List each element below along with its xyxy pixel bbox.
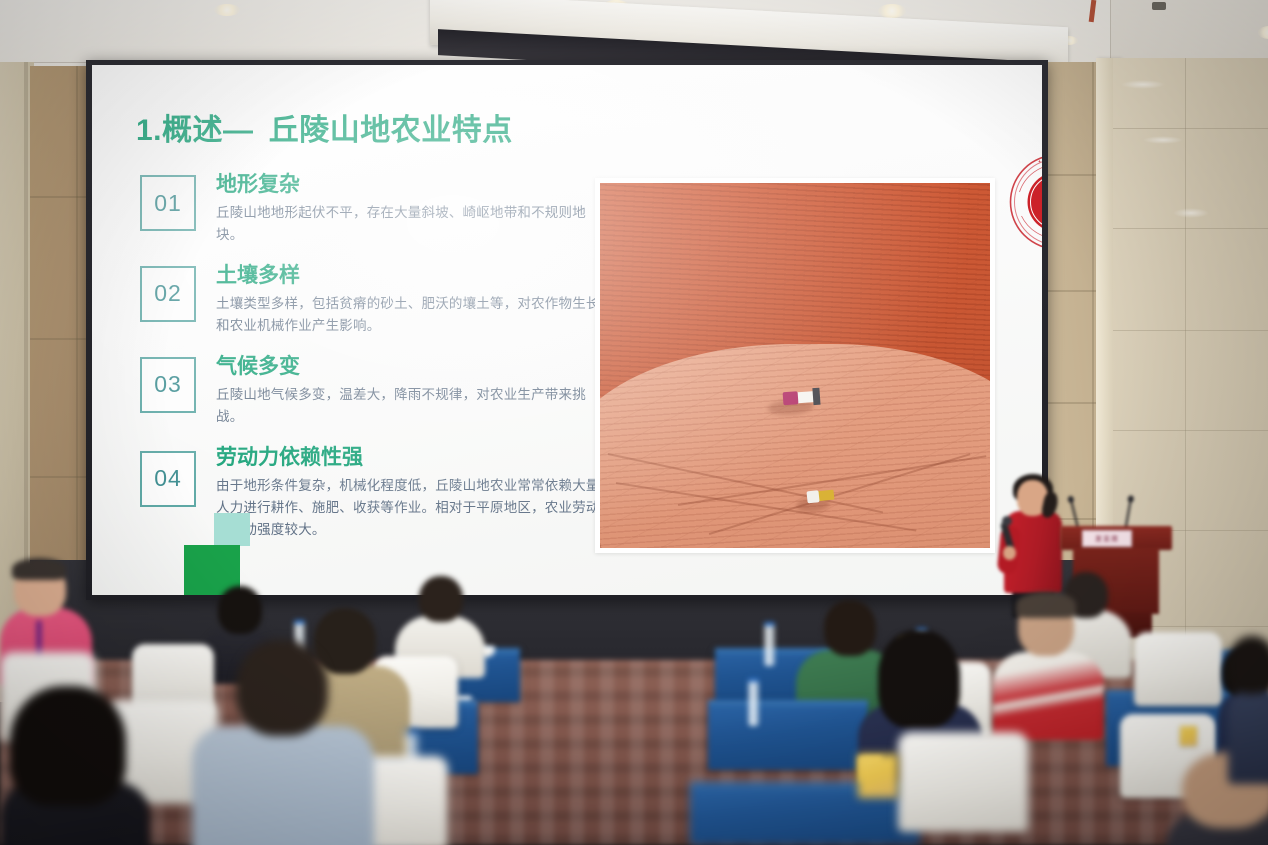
bullet-number: 04: [154, 465, 182, 492]
downlight-icon: [878, 4, 906, 18]
list-item: 04 劳动力依赖性强 由于地形条件复杂，机械化程度低，丘陵山地农业常常依赖大量人…: [140, 445, 610, 541]
list-item: 01 地形复杂 丘陵山地地形起伏不平，存在大量斜坡、崎岖地带和不规则地块。: [140, 172, 610, 246]
tractor-icon: [783, 390, 820, 405]
bullet-text: 丘陵山地地形起伏不平，存在大量斜坡、崎岖地带和不规则地块。: [216, 202, 610, 246]
podium-sign-label: 发言席: [1095, 534, 1119, 544]
slide-title-sub: 丘陵山地农业特点: [269, 114, 513, 147]
bullet-heading: 土壤多样: [216, 263, 610, 288]
bullet-number: 02: [154, 280, 182, 307]
attendee-dark-hair-left-front: [0, 686, 150, 845]
bullet-number-box: 01: [140, 175, 196, 231]
list-item: 03 气候多变 丘陵山地气候多变，温差大，降雨不规律，对农业生产带来挑战。: [140, 354, 610, 428]
slide-title: 1.概述— 丘陵山地农业特点: [136, 105, 513, 149]
bullet-number-box: 04: [140, 451, 196, 507]
ceiling-sensor-icon: [1152, 2, 1166, 10]
presentation-slide: 1.概述— 丘陵山地农业特点 1906 ✦ ✦ ✦ ✦ ✦ ✦ ✦ ✦: [92, 65, 1042, 595]
water-bottle: [748, 678, 759, 726]
svg-text:✦ ✦ ✦ ✦ ✦ ✦ ✦ ✦: ✦ ✦ ✦ ✦ ✦ ✦ ✦ ✦: [1038, 159, 1042, 164]
attendee-blue-polo: [192, 640, 374, 845]
bullet-number-box: 03: [140, 357, 196, 413]
table: [708, 700, 868, 770]
decor-square-mint: [214, 513, 250, 546]
slide-title-number: 1.: [136, 114, 162, 147]
name-card: [858, 754, 898, 798]
university-seal-logo: 1906 ✦ ✦ ✦ ✦ ✦ ✦ ✦ ✦ 大 学: [1005, 152, 1042, 252]
bullet-number: 01: [154, 190, 182, 217]
bullet-heading: 劳动力依赖性强: [216, 445, 610, 470]
bullet-number-box: 02: [140, 266, 196, 322]
attendee-red-stripe-polo: [992, 596, 1104, 732]
name-card: [1180, 726, 1197, 746]
slide-title-dash: —: [223, 114, 251, 147]
bullet-text: 由于地形条件复杂，机械化程度低，丘陵山地农业常常依赖大量人力进行耕作、施肥、收获…: [216, 475, 610, 541]
microphone-head-icon: [1002, 516, 1012, 526]
bullet-text: 土壤类型多样，包括贫瘠的砂土、肥沃的壤土等，对农作物生长和农业机械作业产生影响。: [216, 293, 610, 337]
chair: [898, 732, 1028, 832]
aerial-farmland-photo: [595, 178, 995, 553]
bullet-list: 01 地形复杂 丘陵山地地形起伏不平，存在大量斜坡、崎岖地带和不规则地块。 02…: [140, 172, 610, 557]
podium-sign: 发言席: [1082, 530, 1132, 547]
chair: [1134, 632, 1222, 706]
bullet-text: 丘陵山地气候多变，温差大，降雨不规律，对农业生产带来挑战。: [216, 384, 610, 428]
list-item: 02 土壤多样 土壤类型多样，包括贫瘠的砂土、肥沃的壤土等，对农作物生长和农业机…: [140, 263, 610, 337]
slide-title-main: 概述: [162, 114, 223, 147]
tractor-icon: [806, 488, 834, 503]
bullet-number: 03: [154, 371, 182, 398]
bullet-heading: 地形复杂: [216, 172, 610, 197]
water-bottle: [764, 622, 775, 666]
conference-photo-scene: 1.概述— 丘陵山地农业特点 1906 ✦ ✦ ✦ ✦ ✦ ✦ ✦ ✦: [0, 0, 1268, 845]
attendee-side-right: [1228, 636, 1268, 776]
downlight-icon: [214, 4, 240, 16]
bullet-heading: 气候多变: [216, 354, 610, 379]
